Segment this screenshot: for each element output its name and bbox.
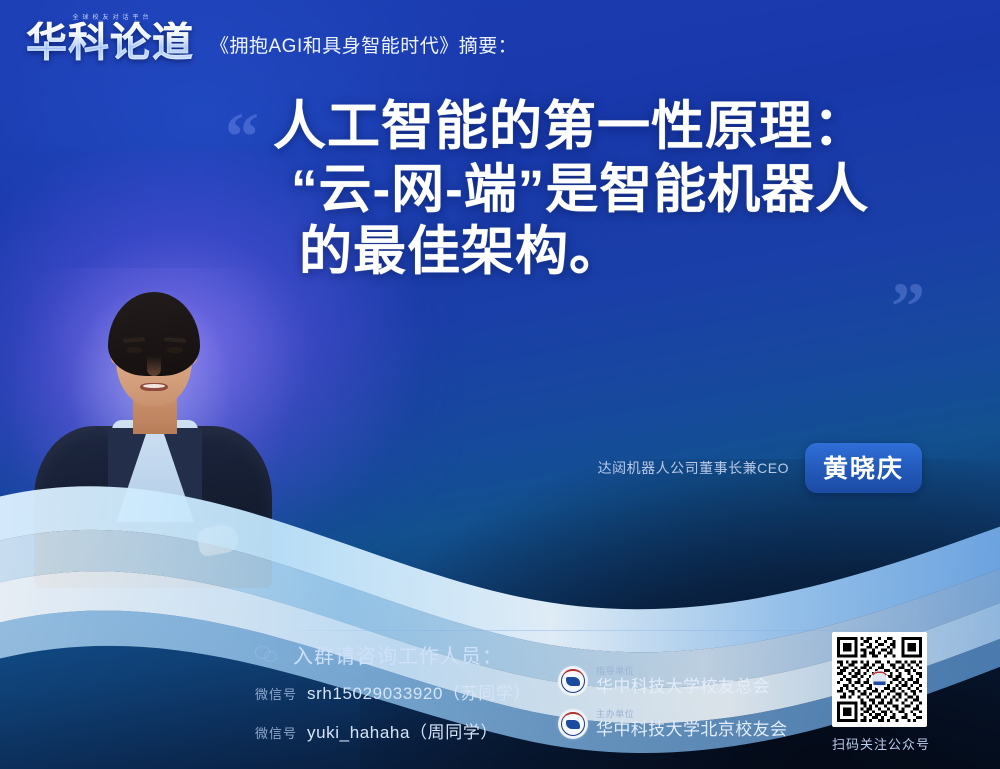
wechat-icon	[255, 646, 281, 664]
speaker-name-badge: 黄晓庆	[805, 443, 922, 493]
portrait-eye-right	[167, 347, 183, 353]
organization-kind: 主办单位	[596, 709, 787, 719]
speaker-attribution: 达闼机器人公司董事长兼CEO 黄晓庆	[598, 443, 922, 493]
organization-name: 华中科技大学校友总会	[596, 677, 770, 697]
organization-text: 主办单位 华中科技大学北京校友会	[596, 709, 787, 740]
quote-line-3: 的最佳架构。	[273, 221, 965, 284]
qr-caption: 扫码关注公众号	[832, 734, 930, 753]
footer-contact-section: 入群请咨询工作人员： 微信号 srh15029033920（苏同学） 微信号 y…	[255, 640, 531, 757]
contact-row: 微信号 srh15029033920（苏同学）	[255, 679, 531, 704]
header: 全球校友对话平台 华科论道 《拥抱AGI和具身智能时代》摘要：	[26, 12, 517, 63]
contact-value: srh15029033920（苏同学）	[307, 679, 531, 704]
page-title: 《拥抱AGI和具身智能时代》摘要：	[210, 31, 517, 58]
quote-line-1: 人工智能的第一性原理：	[273, 96, 965, 159]
qr-section: 扫码关注公众号	[832, 632, 930, 753]
portrait-eye-left	[126, 347, 142, 353]
organization-kind: 指导单位	[596, 666, 770, 676]
footer-divider	[290, 630, 940, 631]
contact-value: yuki_hahaha（周同学）	[307, 718, 498, 743]
organization-text: 指导单位 华中科技大学校友总会	[596, 666, 770, 697]
footer-heading-row: 入群请咨询工作人员：	[255, 640, 531, 669]
quote-lines: 人工智能的第一性原理： “云-网-端”是智能机器人 的最佳架构。	[225, 96, 965, 284]
portrait-nose	[147, 356, 161, 376]
organization-row: 指导单位 华中科技大学校友总会	[558, 666, 787, 697]
university-seal-icon	[558, 666, 588, 696]
contact-label: 微信号	[255, 723, 297, 742]
contact-row: 微信号 yuki_hahaha（周同学）	[255, 718, 531, 743]
footer-heading: 入群请咨询工作人员：	[293, 640, 503, 669]
quote-line-2: “云-网-端”是智能机器人	[273, 159, 965, 222]
organizations-section: 指导单位 华中科技大学校友总会 主办单位 华中科技大学北京校友会	[558, 666, 787, 752]
organization-name: 华中科技大学北京校友会	[596, 720, 787, 740]
quote-close-mark: ”	[891, 272, 925, 340]
contact-label: 微信号	[255, 684, 297, 703]
poster-root: 全球校友对话平台 华科论道 《拥抱AGI和具身智能时代》摘要： “ 人工智能的第…	[0, 0, 1000, 769]
university-seal-icon	[558, 709, 588, 739]
brand-logo: 全球校友对话平台 华科论道	[26, 12, 194, 63]
speaker-role: 达闼机器人公司董事长兼CEO	[598, 458, 789, 478]
organization-row: 主办单位 华中科技大学北京校友会	[558, 709, 787, 740]
quote-open-mark: “	[225, 102, 259, 170]
quote-block: “ 人工智能的第一性原理： “云-网-端”是智能机器人 的最佳架构。 ”	[225, 96, 965, 284]
logo-text: 华科论道	[26, 22, 194, 63]
portrait-mouth	[140, 383, 168, 391]
qr-code[interactable]	[832, 632, 927, 727]
